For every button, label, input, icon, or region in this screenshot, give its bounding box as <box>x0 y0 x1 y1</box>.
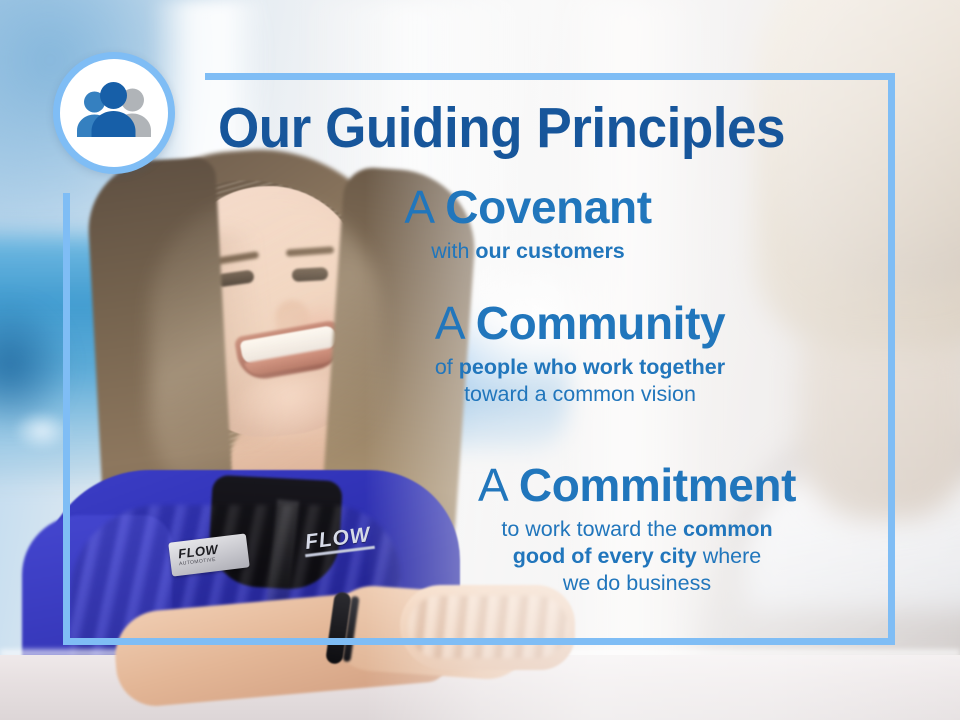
subtext-line: of people who work together <box>345 354 815 381</box>
subtext-line: toward a common vision <box>345 381 815 408</box>
principle-heading-community: A Community <box>345 300 815 348</box>
subtext-plain: to work toward the <box>501 517 683 541</box>
subtext-plain: toward a common vision <box>464 382 696 406</box>
subtext-plain: we do business <box>563 571 711 595</box>
principle-subtext-commitment: to work toward the commongood of every c… <box>397 516 877 597</box>
article-word: A <box>404 181 432 233</box>
subtext-line: to work toward the common <box>397 516 877 543</box>
page-title: Our Guiding Principles <box>218 95 785 161</box>
banner-canvas: FLOW AUTOMOTIVE FLOW <box>0 0 960 720</box>
subtext-line: with our customers <box>293 238 763 265</box>
subject-fingers <box>408 596 568 658</box>
second-person-head <box>780 0 960 290</box>
subtext-line: good of every city where <box>397 543 877 570</box>
principle-noun: Covenant <box>445 181 651 233</box>
subtext-plain: where <box>697 544 762 568</box>
principle-noun: Community <box>476 297 725 349</box>
subtext-emphasis: people who work together <box>459 355 725 379</box>
subtext-emphasis: good of every city <box>513 544 697 568</box>
subtext-emphasis: our customers <box>475 239 624 263</box>
principle-subtext-covenant: with our customers <box>293 238 763 265</box>
principle-community: A Community of people who work togethert… <box>345 300 815 408</box>
principle-heading-covenant: A Covenant <box>293 184 763 232</box>
article-word: A <box>478 459 506 511</box>
principle-noun: Commitment <box>519 459 796 511</box>
subtext-plain: with <box>431 239 475 263</box>
principle-commitment: A Commitment to work toward the commongo… <box>397 462 877 597</box>
subtext-line: we do business <box>397 570 877 597</box>
subtext-plain: of <box>435 355 459 379</box>
subtext-emphasis: common <box>683 517 773 541</box>
principle-heading-commitment: A Commitment <box>397 462 877 510</box>
people-group-icon <box>53 52 175 174</box>
principle-covenant: A Covenant with our customers <box>293 184 763 265</box>
principle-subtext-community: of people who work togethertoward a comm… <box>345 354 815 408</box>
article-word: A <box>435 297 463 349</box>
blurred-vehicle-emblem <box>12 410 72 452</box>
